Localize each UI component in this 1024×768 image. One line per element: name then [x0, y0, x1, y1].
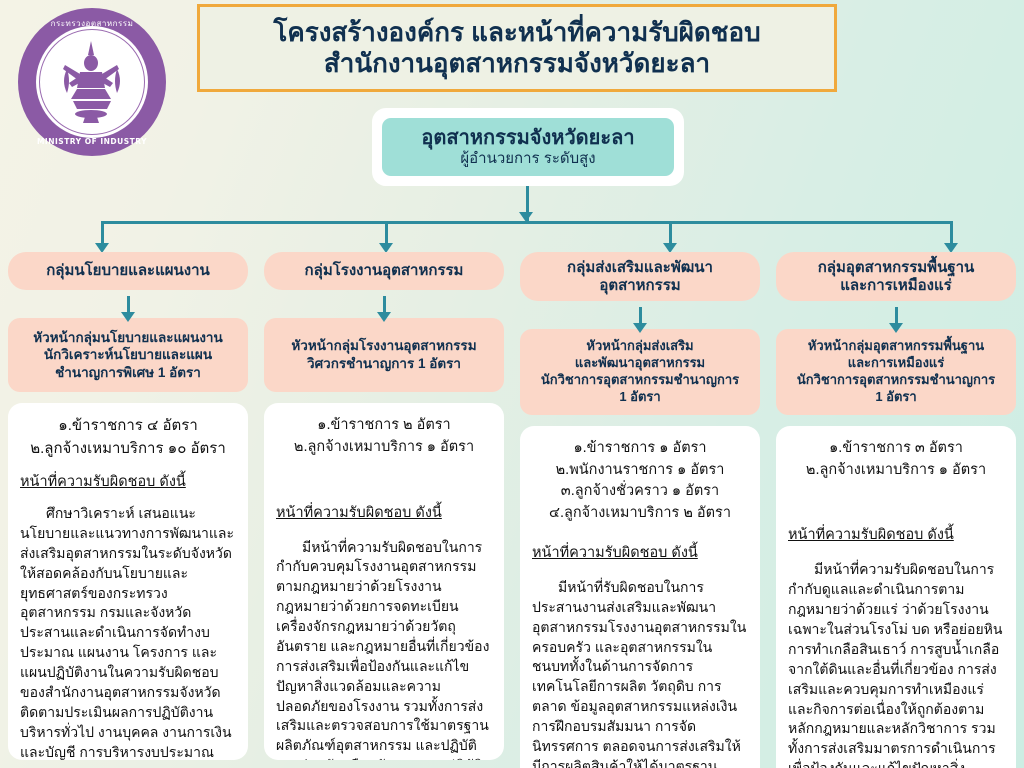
staff-line: ๒.ลูกจ้างเหมาบริการ ๑ อัตรา: [788, 460, 1004, 482]
root-node-title: อุตสาหกรรมจังหวัดยะลา: [421, 127, 634, 149]
group-box-4[interactable]: กลุ่มอุตสาหกรรมพื้นฐาน และการเหมืองแร่: [776, 252, 1016, 301]
responsibilities-body-1: ศึกษาวิเคราะห์ เสนอแนะนโยบายและแนวทางการ…: [20, 504, 236, 760]
org-column-policy-and-planning: กลุ่มนโยบายและแผนงาน หัวหน้ากลุ่มนโยบายแ…: [0, 252, 256, 768]
detail-card-1: ๑.ข้าราชการ ๔ อัตรา ๒.ลูกจ้างเหมาบริการ …: [8, 403, 248, 760]
root-node[interactable]: อุตสาหกรรมจังหวัดยะลา ผู้อำนวยการ ระดับส…: [372, 108, 684, 186]
staff-line: ๔.ลูกจ้างเหมาบริการ ๒ อัตรา: [532, 503, 748, 525]
head-box-2[interactable]: หัวหน้ากลุ่มโรงงานอุตสาหกรรม วิศวกรชำนาญ…: [264, 318, 504, 392]
staff-list-1: ๑.ข้าราชการ ๔ อัตรา ๒.ลูกจ้างเหมาบริการ …: [20, 415, 236, 460]
seal-bottom-text: MINISTRY OF INDUSTRY: [18, 137, 166, 146]
staff-line: ๑.ข้าราชการ ๓ อัตรา: [788, 438, 1004, 460]
staff-line: ๒.ลูกจ้างเหมาบริการ ๑๐ อัตรา: [20, 438, 236, 461]
responsibilities-label-3: หน้าที่ความรับผิดชอบ ดังนี้: [532, 541, 698, 564]
connector-horizontal-bar: [101, 221, 953, 224]
group-to-head-arrow-4: [776, 301, 1016, 329]
group-to-head-arrow-3: [520, 301, 760, 329]
responsibilities-label-1: หน้าที่ความรับผิดชอบ ดังนี้: [20, 470, 186, 493]
org-column-basic-industry-and-mining: กลุ่มอุตสาหกรรมพื้นฐาน และการเหมืองแร่ ห…: [768, 252, 1024, 768]
group-box-2[interactable]: กลุ่มโรงงานอุตสาหกรรม: [264, 252, 504, 290]
head-box-1[interactable]: หัวหน้ากลุ่มนโยบายและแผนงาน นักวิเคราะห์…: [8, 318, 248, 392]
staff-line: ๑.ข้าราชการ ๔ อัตรา: [20, 415, 236, 438]
staff-list-4: ๑.ข้าราชการ ๓ อัตรา ๒.ลูกจ้างเหมาบริการ …: [788, 438, 1004, 482]
staff-line: ๑.ข้าราชการ ๑ อัตรา: [532, 438, 748, 460]
page-header: กระทรวงอุตสาหกรรม MINISTRY OF INDUSTRY: [0, 0, 1024, 108]
detail-card-2: ๑.ข้าราชการ ๒ อัตรา ๒.ลูกจ้างเหมาบริการ …: [264, 403, 504, 760]
org-columns: กลุ่มนโยบายและแผนงาน หัวหน้ากลุ่มนโยบายแ…: [0, 252, 1024, 768]
staff-list-2: ๑.ข้าราชการ ๒ อัตรา ๒.ลูกจ้างเหมาบริการ …: [276, 415, 492, 459]
responsibilities-body-4: มีหน้าที่ความรับผิดชอบในการกำกับดูแลและด…: [788, 560, 1004, 768]
detail-card-4: ๑.ข้าราชการ ๓ อัตรา ๒.ลูกจ้างเหมาบริการ …: [776, 426, 1016, 768]
ministry-logo: กระทรวงอุตสาหกรรม MINISTRY OF INDUSTRY: [18, 8, 166, 156]
staff-line: ๓.ลูกจ้างชั่วคราว ๑ อัตรา: [532, 481, 748, 503]
staff-list-3: ๑.ข้าราชการ ๑ อัตรา ๒.พนักงานราชการ ๑ อั…: [532, 438, 748, 525]
group-box-3[interactable]: กลุ่มส่งเสริมและพัฒนา อุตสาหกรรม: [520, 252, 760, 301]
seal-inner-disc: [36, 26, 148, 138]
ministry-of-industry-seal-icon: กระทรวงอุตสาหกรรม MINISTRY OF INDUSTRY: [18, 8, 166, 156]
responsibilities-body-2: มีหน้าที่ความรับผิดชอบในการกำกับควบคุมโร…: [276, 538, 492, 761]
responsibilities-body-3: มีหน้าที่รับผิดชอบในการประสานงานส่งเสริม…: [532, 578, 748, 768]
group-to-head-arrow-2: [264, 290, 504, 318]
staff-line: ๒.พนักงานราชการ ๑ อัตรา: [532, 460, 748, 482]
responsibilities-label-4: หน้าที่ความรับผิดชอบ ดังนี้: [788, 523, 954, 546]
group-box-1[interactable]: กลุ่มนโยบายและแผนงาน: [8, 252, 248, 290]
org-column-promotion-and-development: กลุ่มส่งเสริมและพัฒนา อุตสาหกรรม หัวหน้า…: [512, 252, 768, 768]
root-node-box: อุตสาหกรรมจังหวัดยะลา ผู้อำนวยการ ระดับส…: [382, 118, 674, 176]
group-to-head-arrow-1: [8, 290, 248, 318]
org-column-industrial-factories: กลุ่มโรงงานอุตสาหกรรม หัวหน้ากลุ่มโรงงาน…: [256, 252, 512, 768]
page-title: โครงสร้างองค์กร และหน้าที่ความรับผิดชอบ …: [197, 4, 837, 92]
responsibilities-label-2: หน้าที่ความรับผิดชอบ ดังนี้: [276, 501, 442, 524]
root-node-subtitle: ผู้อำนวยการ ระดับสูง: [460, 150, 595, 168]
page-title-line-2: สำนักงานอุตสาหกรรมจังหวัดยะลา: [324, 48, 710, 79]
staff-line: ๒.ลูกจ้างเหมาบริการ ๑ อัตรา: [276, 437, 492, 459]
head-box-4[interactable]: หัวหน้ากลุ่มอุตสาหกรรมพื้นฐาน และการเหมื…: [776, 329, 1016, 415]
seal-ring: [39, 29, 145, 135]
detail-card-3: ๑.ข้าราชการ ๑ อัตรา ๒.พนักงานราชการ ๑ อั…: [520, 426, 760, 768]
head-box-3[interactable]: หัวหน้ากลุ่มส่งเสริม และพัฒนาอุตสาหกรรม …: [520, 329, 760, 415]
staff-line: ๑.ข้าราชการ ๒ อัตรา: [276, 415, 492, 437]
page-title-line-1: โครงสร้างองค์กร และหน้าที่ความรับผิดชอบ: [273, 17, 760, 48]
